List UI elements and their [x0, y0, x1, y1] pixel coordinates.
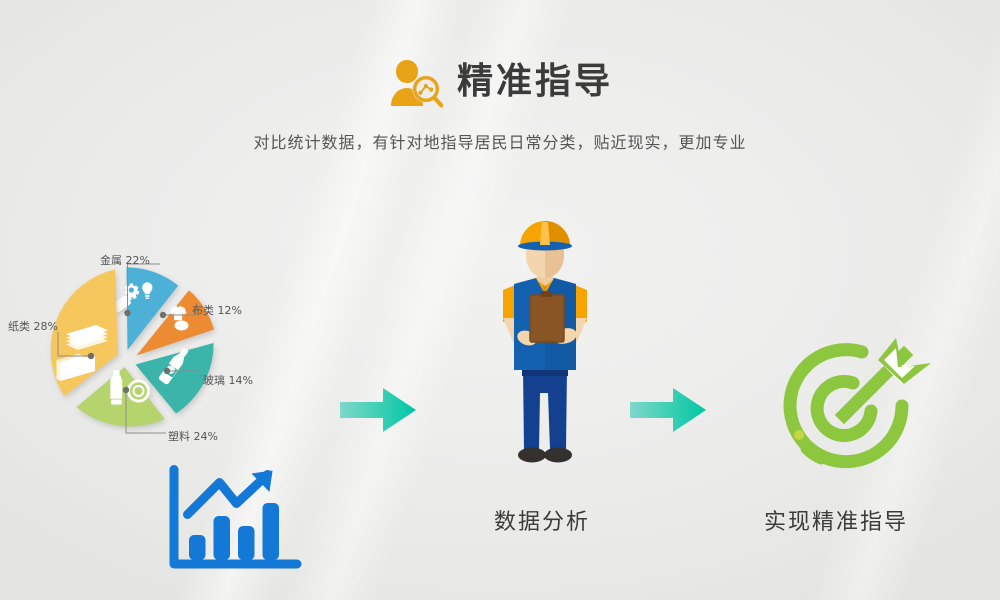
target-arrow-icon [756, 322, 938, 482]
inspector-worker-icon [470, 218, 620, 480]
flow-arrow-1 [338, 385, 418, 435]
pie-label-metal: 金属 22% [100, 252, 150, 268]
pie-label-cloth: 布类 12% [192, 302, 242, 318]
title-row: 精准指导 [0, 56, 1000, 108]
caption-data-analysis: 数据分析 [494, 504, 590, 536]
page-title: 精准指导 [457, 64, 613, 100]
header-block: 精准指导 对比统计数据，有针对地指导居民日常分类，贴近现实，更加专业 [0, 56, 1000, 153]
pie-label-plastic: 塑料 24% [168, 428, 218, 444]
waste-category-pie-chart [0, 238, 300, 468]
pie-label-glass: 玻璃 14% [203, 372, 253, 388]
caption-precise-guidance: 实现精准指导 [764, 504, 908, 536]
pie-slice-paper[interactable] [51, 270, 118, 397]
person-search-icon [387, 56, 443, 108]
page-subtitle: 对比统计数据，有针对地指导居民日常分类，贴近现实，更加专业 [0, 129, 1000, 153]
bar-chart-growth-icon [168, 462, 303, 574]
pie-svg [0, 238, 300, 468]
pie-label-paper: 纸类 28% [8, 318, 58, 334]
flow-arrow-2 [628, 385, 708, 435]
slide-canvas: 精准指导 对比统计数据，有针对地指导居民日常分类，贴近现实，更加专业 [0, 0, 1000, 600]
